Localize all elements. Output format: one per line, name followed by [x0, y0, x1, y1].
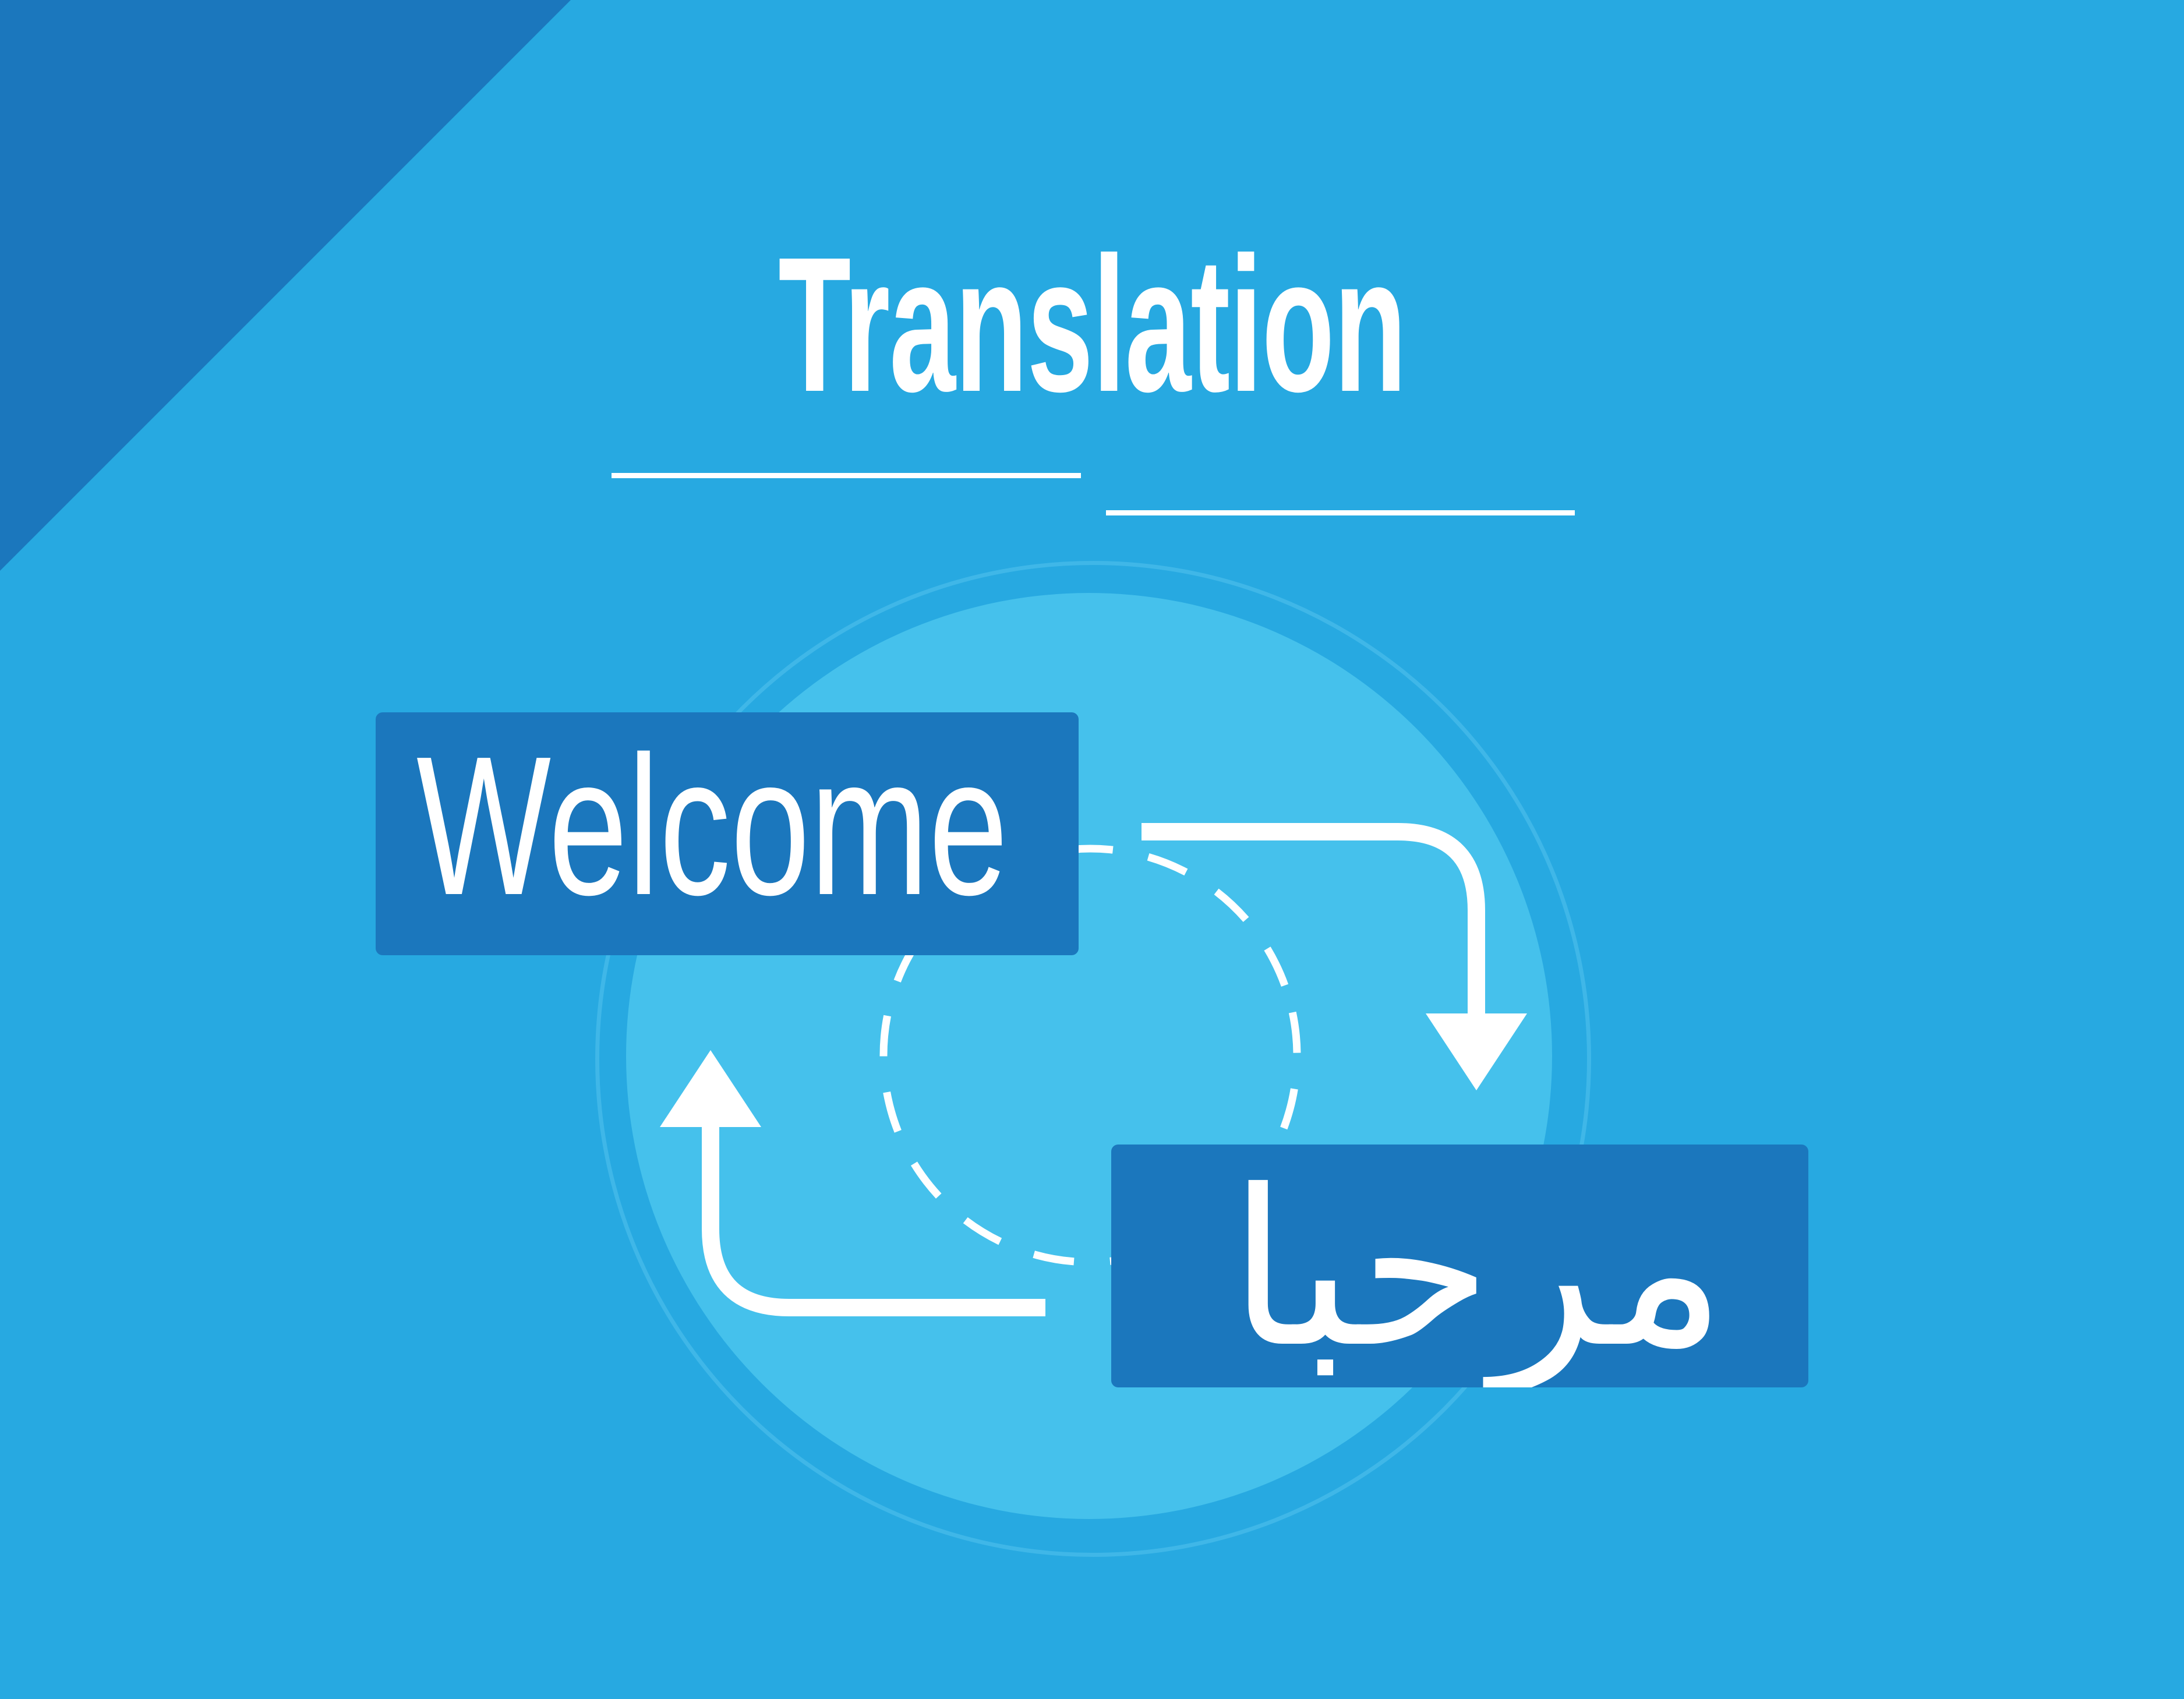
reverse-arrow-head	[660, 1050, 761, 1127]
page-title-block: Translation	[0, 233, 2184, 416]
title-rule-upper	[612, 473, 1081, 478]
page-title: Translation	[778, 233, 1406, 416]
source-language-text: Welcome	[416, 727, 1008, 925]
translation-graphic: Translation Welcome مرحبا	[0, 0, 2184, 1699]
forward-arrow-head	[1426, 1013, 1527, 1090]
target-language-chip[interactable]: مرحبا	[1111, 1145, 1808, 1387]
target-language-text: مرحبا	[1228, 1162, 1726, 1377]
forward-arrow-shaft	[1142, 832, 1476, 1013]
title-rule-lower	[1106, 510, 1575, 515]
reverse-arrow-shaft	[711, 1127, 1045, 1308]
source-language-chip[interactable]: Welcome	[376, 712, 1079, 955]
